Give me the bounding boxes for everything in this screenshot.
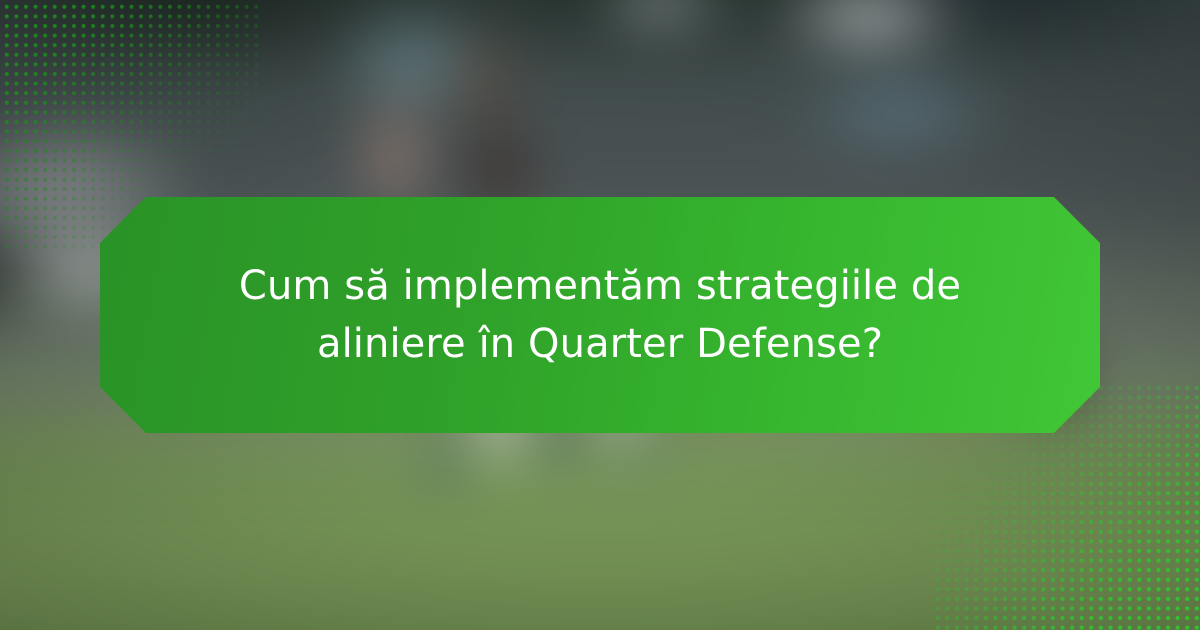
poster-canvas: Cum să implementăm strategiile de alinie…: [0, 0, 1200, 630]
page-title: Cum să implementăm strategiile de alinie…: [170, 257, 1030, 374]
title-banner: Cum să implementăm strategiile de alinie…: [100, 197, 1100, 433]
